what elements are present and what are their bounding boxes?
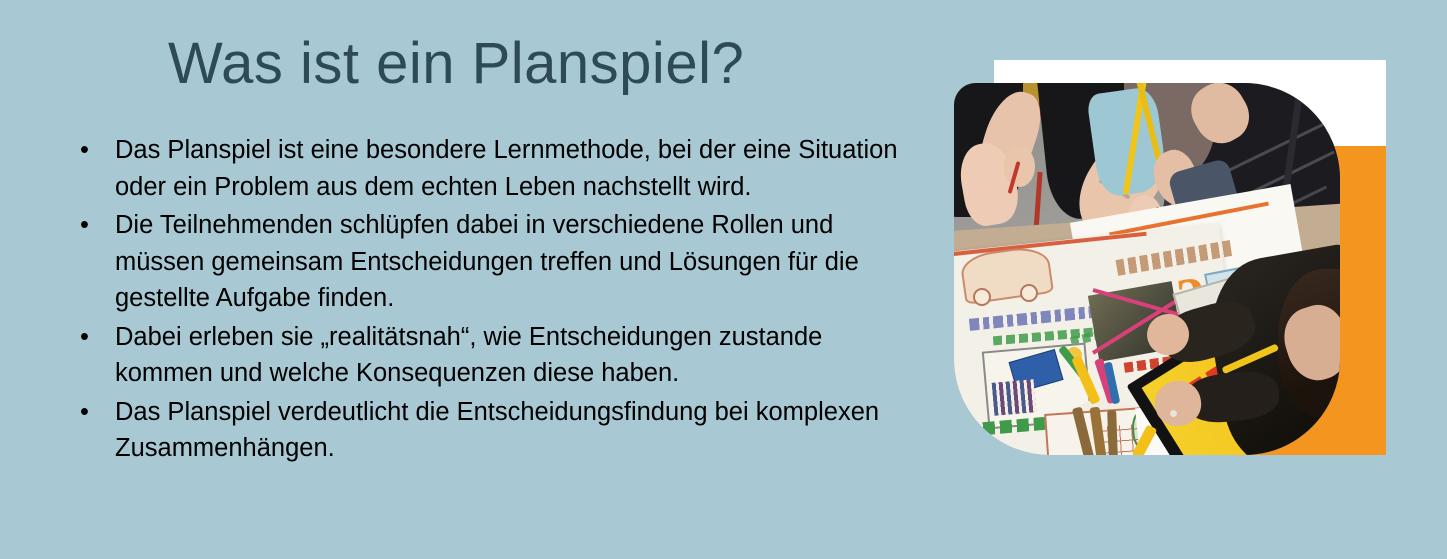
bullet-dot-icon: • bbox=[80, 132, 89, 169]
photo-scene: ? bbox=[954, 83, 1340, 455]
bullet-list: • Das Planspiel ist eine besondere Lernm… bbox=[62, 132, 922, 469]
page-title: Was ist ein Planspiel? bbox=[168, 30, 948, 98]
bullet-dot-icon: • bbox=[80, 207, 89, 244]
workshop-photo: ? bbox=[954, 83, 1340, 455]
list-item-text: Dabei erleben sie „realitätsnah“, wie En… bbox=[115, 319, 922, 392]
list-item-text: Die Teilnehmenden schlüpfen dabei in ver… bbox=[115, 207, 922, 317]
list-item-text: Das Planspiel verdeutlicht die Entscheid… bbox=[115, 394, 922, 467]
list-item-text: Das Planspiel ist eine besondere Lernmet… bbox=[115, 132, 922, 205]
list-item: • Die Teilnehmenden schlüpfen dabei in v… bbox=[62, 207, 922, 317]
slide-canvas: Was ist ein Planspiel? • Das Planspiel i… bbox=[0, 0, 1447, 559]
list-item: • Das Planspiel verdeutlicht die Entsche… bbox=[62, 394, 922, 467]
list-item: • Das Planspiel ist eine besondere Lernm… bbox=[62, 132, 922, 205]
photo-hand bbox=[1004, 146, 1035, 187]
bullet-dot-icon: • bbox=[80, 394, 89, 431]
photo-drawing-wheel bbox=[973, 288, 991, 306]
list-item: • Dabei erleben sie „realitätsnah“, wie … bbox=[62, 319, 922, 392]
photo-drawing-wheel bbox=[1020, 284, 1038, 302]
photo-drawing-people bbox=[991, 379, 1036, 416]
bullet-dot-icon: • bbox=[80, 319, 89, 356]
picture-group: ? bbox=[954, 60, 1386, 456]
